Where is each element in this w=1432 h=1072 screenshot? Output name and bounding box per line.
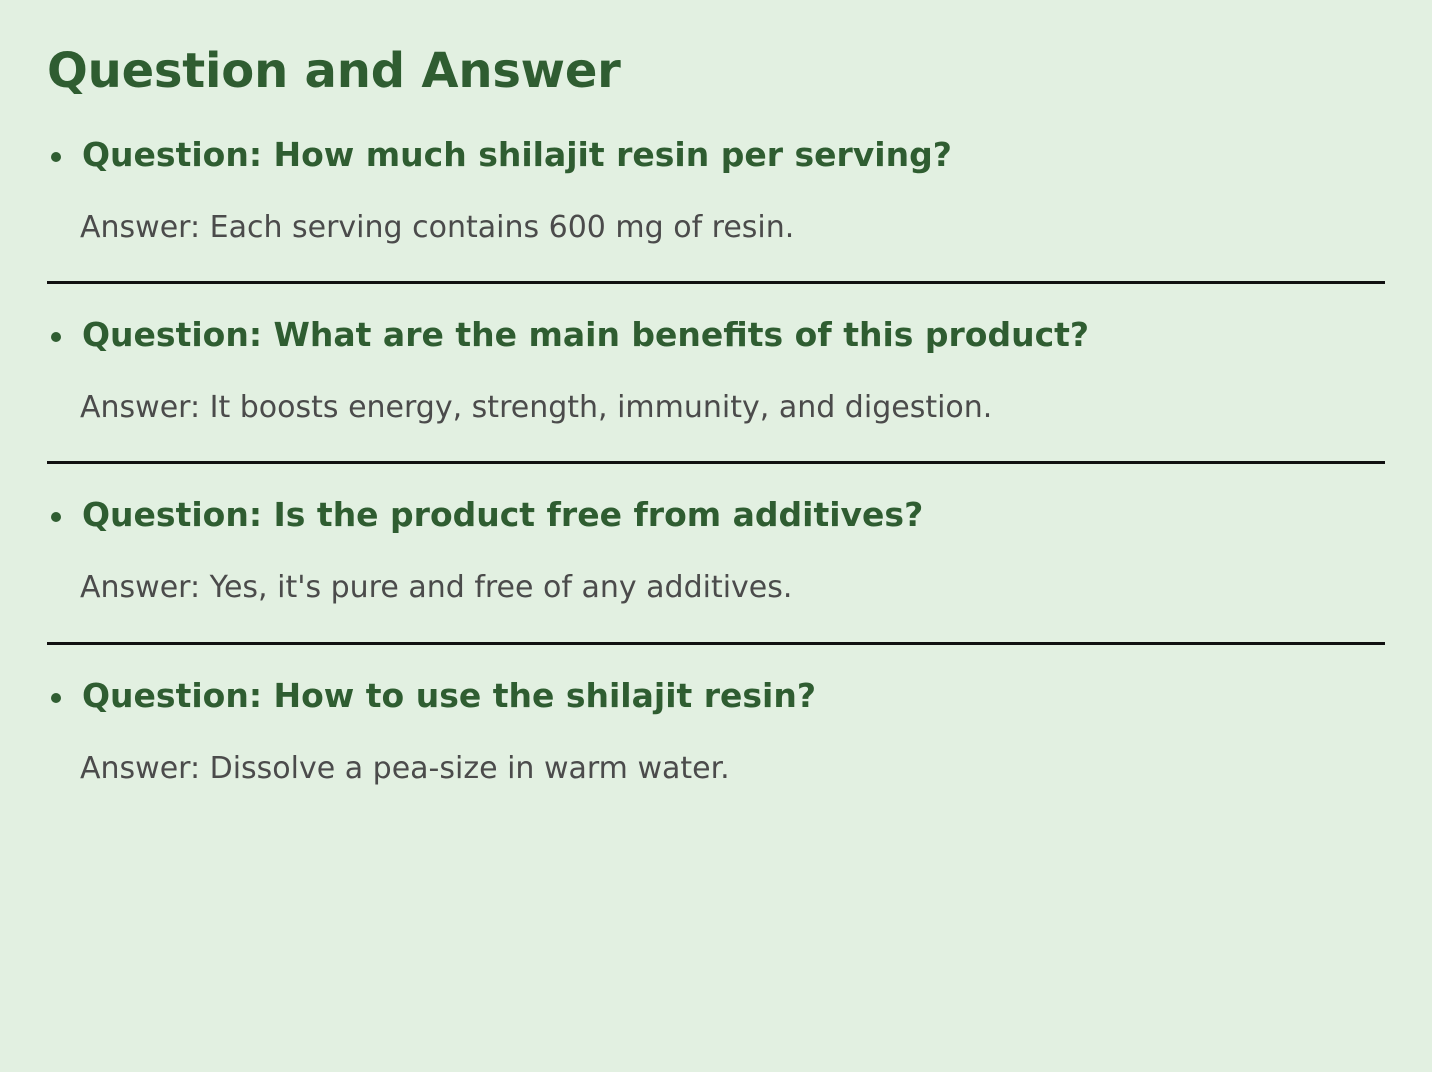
qa-item: Question: What are the main benefits of … — [47, 281, 1385, 461]
qa-question: Question: How to use the shilajit resin? — [47, 645, 1385, 718]
qa-item: Question: Is the product free from addit… — [47, 461, 1385, 641]
page-title: Question and Answer — [47, 0, 1385, 100]
qa-answer: Answer: It boosts energy, strength, immu… — [47, 357, 1385, 462]
qa-question: Question: Is the product free from addit… — [47, 464, 1385, 537]
qa-answer: Answer: Dissolve a pea-size in warm wate… — [47, 718, 1385, 823]
qa-page: Question and Answer Question: How much s… — [0, 0, 1432, 1072]
qa-answer: Answer: Yes, it's pure and free of any a… — [47, 537, 1385, 642]
bullet-icon — [51, 693, 61, 703]
qa-question: Question: How much shilajit resin per se… — [47, 100, 1385, 177]
qa-answer: Answer: Each serving contains 600 mg of … — [47, 177, 1385, 282]
qa-item: Question: How to use the shilajit resin?… — [47, 642, 1385, 822]
qa-question-text: Question: Is the product free from addit… — [82, 495, 923, 534]
qa-question-text: Question: What are the main benefits of … — [82, 315, 1089, 354]
qa-item: Question: How much shilajit resin per se… — [47, 100, 1385, 281]
qa-question: Question: What are the main benefits of … — [47, 284, 1385, 357]
qa-question-text: Question: How much shilajit resin per se… — [82, 135, 952, 174]
bullet-icon — [51, 152, 61, 162]
qa-list: Question: How much shilajit resin per se… — [47, 100, 1385, 823]
qa-question-text: Question: How to use the shilajit resin? — [82, 676, 816, 715]
bullet-icon — [51, 332, 61, 342]
bullet-icon — [51, 512, 61, 522]
